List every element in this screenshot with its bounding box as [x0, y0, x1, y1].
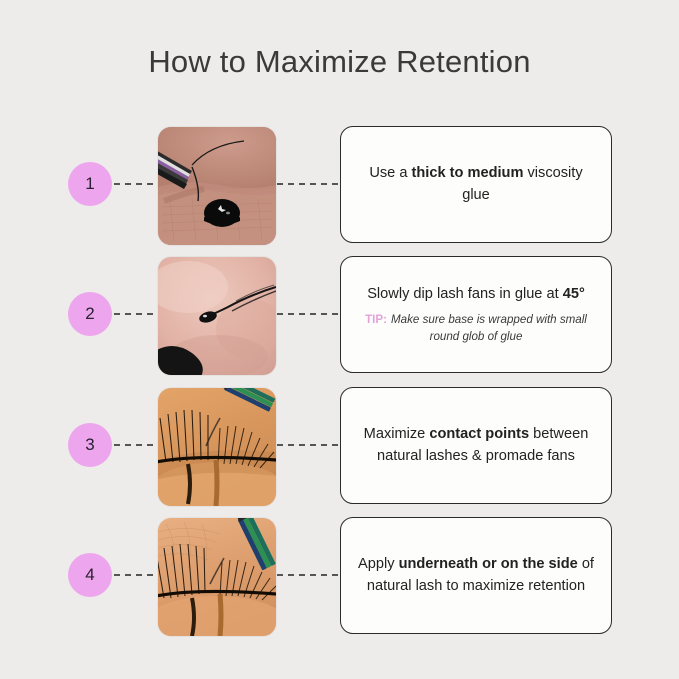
lash-fan-dipped-in-glue-icon	[158, 257, 276, 375]
step-text: Apply underneath or on the side of natur…	[357, 554, 595, 597]
tip-text: Make sure base is wrapped with small rou…	[391, 313, 587, 342]
step-row: 3	[0, 381, 679, 511]
step-text-lead: Slowly dip lash fans in glue at	[367, 286, 563, 302]
tweezers-placing-fan-on-natural-lashes-icon	[158, 388, 276, 506]
step-row: 1	[0, 120, 679, 250]
step-tip: TIP:Make sure base is wrapped with small…	[357, 312, 595, 345]
tweezers-holding-lash-with-glue-drop-icon	[158, 127, 276, 245]
step-text-card: Apply underneath or on the side of natur…	[340, 517, 612, 634]
connector-dashed-right	[277, 313, 341, 315]
step-number-badge: 1	[68, 162, 112, 206]
step-number-badge: 4	[68, 553, 112, 597]
infographic-canvas: How to Maximize Retention 1	[0, 0, 679, 679]
connector-dashed-left	[114, 183, 159, 185]
step-text-bold: thick to medium	[412, 165, 524, 181]
step-photo	[158, 127, 276, 245]
step-number-badge: 3	[68, 423, 112, 467]
connector-dashed-left	[114, 574, 159, 576]
step-text: Slowly dip lash fans in glue at 45°	[367, 284, 585, 306]
step-photo	[158, 388, 276, 506]
step-row: 4	[0, 511, 679, 641]
connector-dashed-left	[114, 444, 159, 446]
step-text-lead: Apply	[358, 556, 399, 572]
tip-label: TIP:	[365, 313, 387, 326]
step-number-badge: 2	[68, 292, 112, 336]
step-photo	[158, 518, 276, 636]
step-row: 2	[0, 250, 679, 380]
connector-dashed-right	[277, 183, 341, 185]
connector-dashed-right	[277, 444, 341, 446]
step-text-bold: contact points	[429, 426, 529, 442]
page-title: How to Maximize Retention	[0, 44, 679, 80]
step-text-lead: Maximize	[364, 426, 430, 442]
step-photo	[158, 257, 276, 375]
step-text: Use a thick to medium viscosity glue	[357, 163, 595, 206]
step-text-bold: 45°	[563, 286, 585, 302]
step-text-card: Use a thick to medium viscosity glue	[340, 126, 612, 243]
fan-applied-under-natural-lash-icon	[158, 518, 276, 636]
step-text-bold: underneath or on the side	[399, 556, 578, 572]
connector-dashed-right	[277, 574, 341, 576]
connector-dashed-left	[114, 313, 159, 315]
step-text-lead: Use a	[369, 165, 411, 181]
step-text: Maximize contact points between natural …	[357, 424, 595, 467]
step-text-card: Maximize contact points between natural …	[340, 387, 612, 504]
step-text-card: Slowly dip lash fans in glue at 45° TIP:…	[340, 256, 612, 373]
